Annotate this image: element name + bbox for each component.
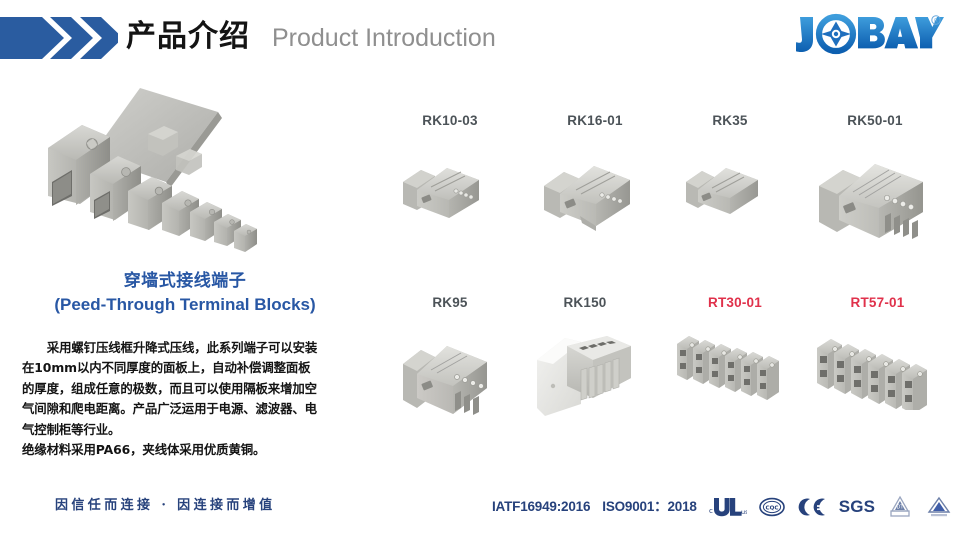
slide-footer: 因信任而连接 · 因连接而增值 IATF16949:2016 ISO9001：2… — [0, 484, 960, 540]
product-cell-rk10-03[interactable]: RK10-03 — [380, 112, 520, 272]
ce-mark-icon — [797, 496, 827, 518]
sgs-mark-label: SGS — [839, 497, 876, 517]
product-grid: RK10-03 — [380, 112, 950, 442]
terminal-block-small-icon — [380, 138, 520, 258]
product-cell-rt57-01[interactable]: RT57-01 — [805, 294, 950, 454]
certification-bar: IATF16949:2016 ISO9001：2018 c us CQC — [492, 494, 953, 520]
product-title-en: (Peed-Through Terminal Blocks) — [0, 293, 370, 316]
compliance-mark-2-icon — [925, 495, 953, 519]
compliance-mark-1-icon: DT — [887, 495, 913, 519]
svg-text:DT: DT — [897, 504, 905, 510]
slide-header: 产品介绍 Product Introduction — [0, 0, 960, 72]
product-description: 采用螺钉压线框升降式压线，此系列端子可以安装在10mm以内不同厚度的面板上，自动… — [22, 338, 322, 460]
cqc-mark-icon: CQC — [759, 497, 785, 517]
product-cell-rk95[interactable]: RK95 — [380, 294, 520, 454]
product-grid-row-2: RK95 — [380, 294, 950, 454]
product-label: RK95 — [380, 294, 520, 312]
description-paragraph-1: 采用螺钉压线框升降式压线，此系列端子可以安装在10mm以内不同厚度的面板上，自动… — [22, 338, 322, 440]
terminal-block-medium-icon — [525, 138, 665, 258]
svg-text:c: c — [709, 507, 713, 515]
terminal-block-compact-icon — [670, 138, 790, 258]
product-cell-rk50-01[interactable]: RK50-01 — [800, 112, 950, 272]
page-title-cn: 产品介绍 — [126, 18, 250, 56]
svg-text:us: us — [741, 508, 747, 516]
product-label: RK50-01 — [800, 112, 950, 130]
product-label: RT57-01 — [805, 294, 950, 312]
terminal-block-family-photo — [36, 78, 326, 268]
description-paragraph-2: 绝缘材料采用PA66，夹线体采用优质黄铜。 — [22, 440, 322, 460]
product-cell-rt30-01[interactable]: RT30-01 — [665, 294, 805, 454]
terminal-strip-6pos-wide-icon — [805, 320, 950, 440]
product-cell-rk16-01[interactable]: RK16-01 — [525, 112, 665, 272]
svg-text:CQC: CQC — [765, 506, 778, 512]
terminal-block-large-icon — [800, 138, 950, 258]
product-label: RK10-03 — [380, 112, 520, 130]
product-cell-rk35[interactable]: RK35 — [670, 112, 790, 272]
terminal-strip-6pos-icon — [665, 320, 805, 440]
terminal-block-xl-icon — [380, 320, 520, 440]
cert-iatf-label: IATF16949:2016 — [492, 497, 590, 517]
product-label: RT30-01 — [665, 294, 805, 312]
chevron-arrows-icon — [0, 17, 118, 59]
product-label: RK16-01 — [525, 112, 665, 130]
jobay-star-logo-icon: R — [796, 13, 944, 55]
product-title: 穿墙式接线端子 (Peed-Through Terminal Blocks) — [0, 270, 370, 316]
product-label: RK150 — [510, 294, 660, 312]
terminal-block-panel-icon — [510, 320, 660, 440]
product-grid-row-1: RK10-03 — [380, 112, 950, 272]
product-cell-rk150[interactable]: RK150 — [510, 294, 660, 454]
company-slogan: 因信任而连接 · 因连接而增值 — [55, 496, 276, 516]
page-title-en: Product Introduction — [272, 22, 496, 54]
product-title-cn: 穿墙式接线端子 — [0, 270, 370, 293]
svg-text:R: R — [934, 19, 938, 25]
cert-iso-label: ISO9001：2018 — [602, 497, 696, 517]
product-label: RK35 — [670, 112, 790, 130]
ul-mark-icon: c us — [709, 496, 747, 518]
